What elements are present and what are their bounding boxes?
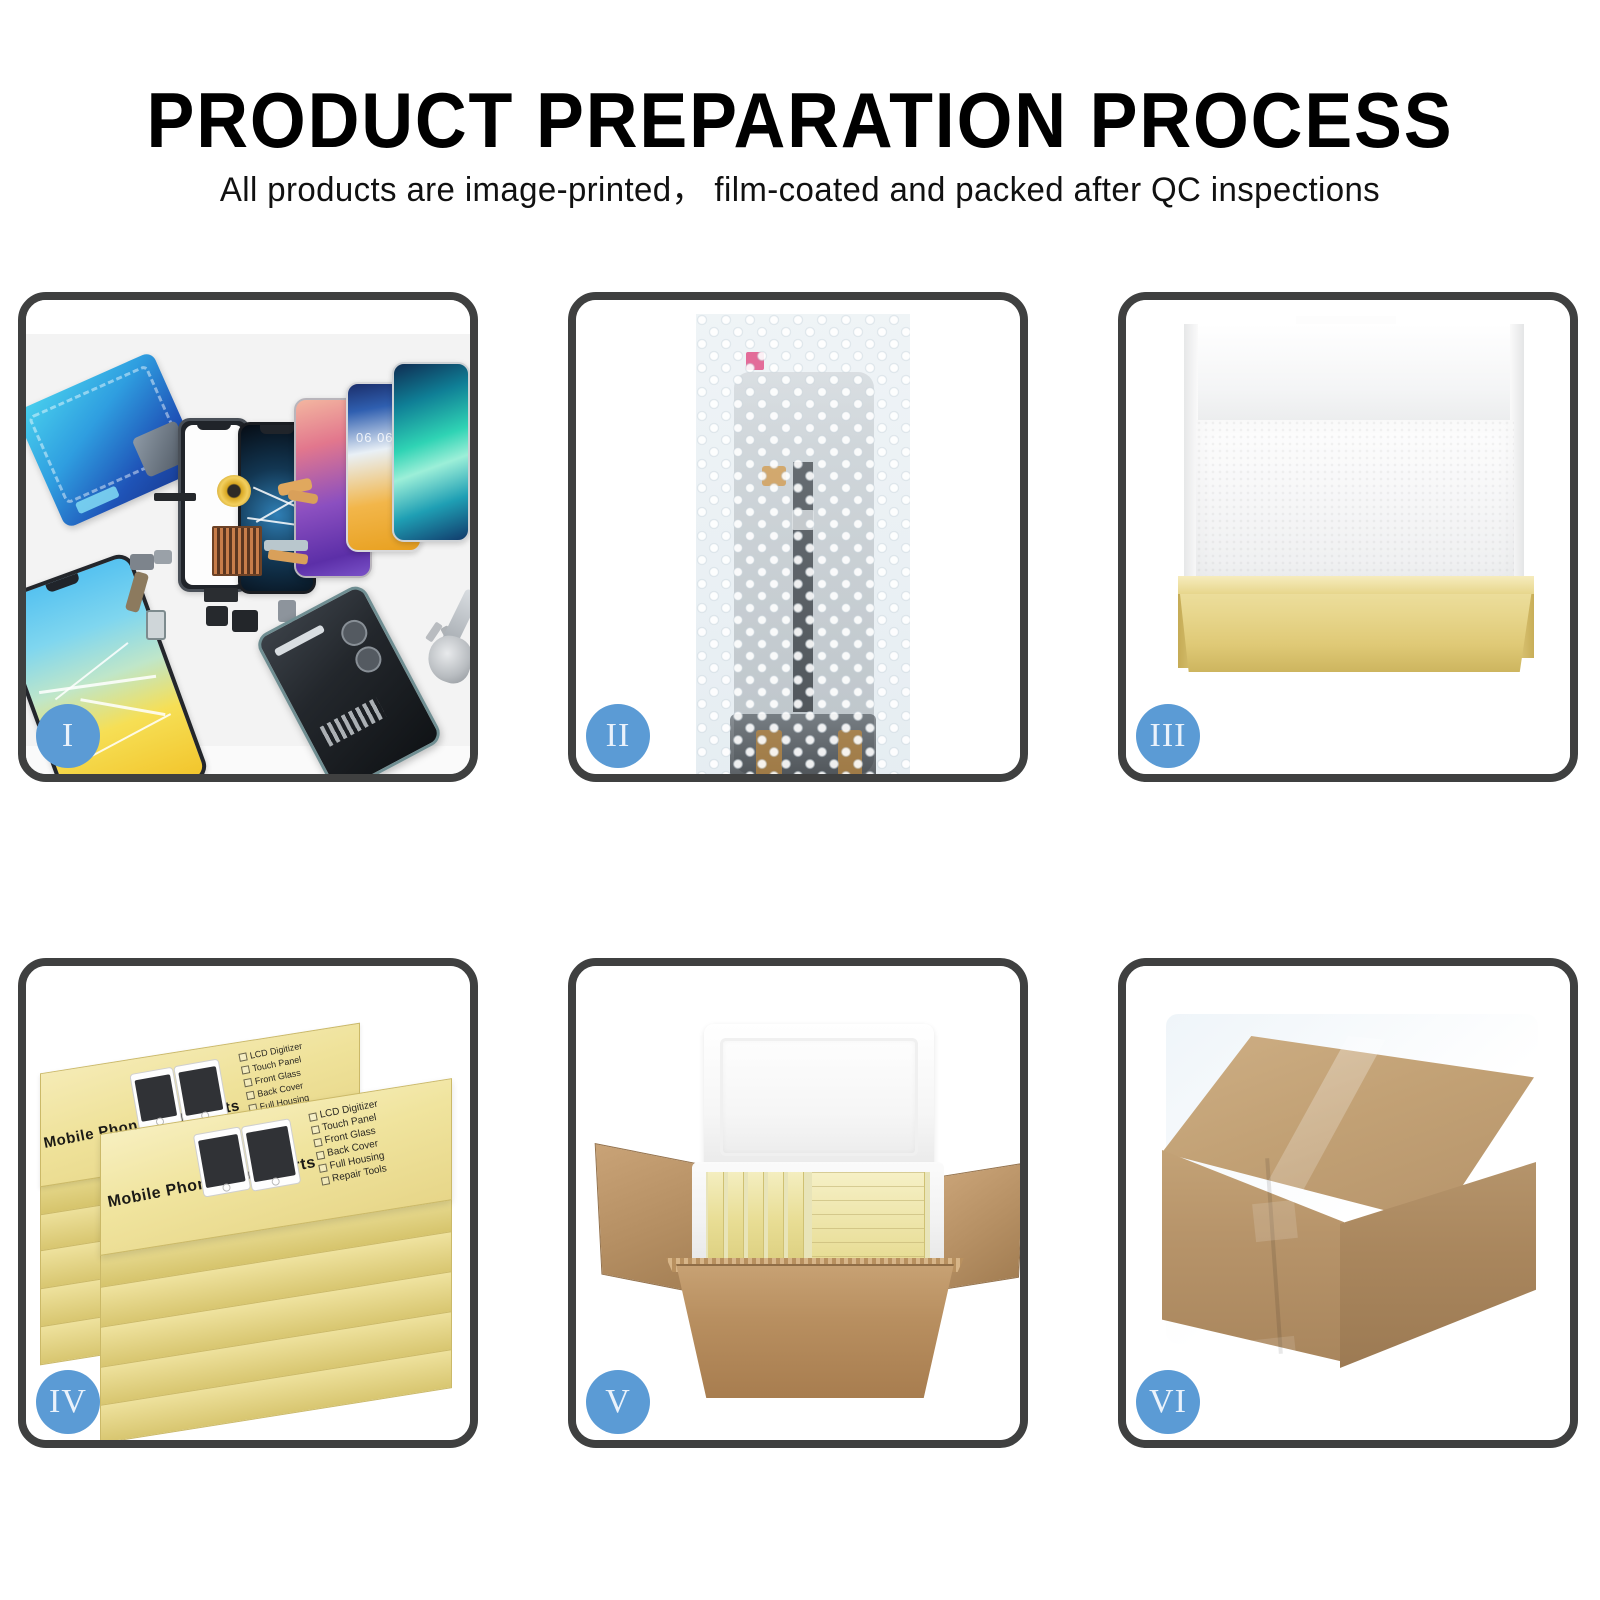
sim-tray-part: [146, 610, 166, 640]
phone-clock-label: 06 06: [356, 430, 394, 445]
step-panel-5[interactable]: V: [568, 958, 1028, 1448]
backdrop-band-top: [26, 300, 470, 334]
step-6-image: [1126, 966, 1570, 1440]
chip-part: [204, 588, 238, 602]
styrofoam-lid: [704, 1024, 934, 1172]
step-3-image: [1126, 300, 1570, 774]
wireless-coil-part: [217, 475, 251, 507]
checkbox-icon: [311, 1125, 320, 1134]
foam-texture: [1196, 420, 1514, 578]
artwork-screen: [178, 1066, 223, 1116]
camera-module-part: [130, 554, 154, 570]
yellow-box-front-edge: [1178, 576, 1534, 594]
step-panel-3[interactable]: III: [1118, 292, 1578, 782]
step-2-image: [576, 300, 1020, 774]
artwork-screen: [246, 1126, 296, 1183]
crack-line: [55, 642, 129, 700]
carton-tab: [1252, 1336, 1298, 1376]
white-foam-sheet: [1196, 420, 1514, 578]
bubble-wrap-texture: [696, 314, 910, 774]
retail-box-stack-lines: [812, 1172, 925, 1262]
artwork-home-button: [222, 1183, 231, 1192]
checkbox-icon: [246, 1091, 255, 1100]
green-wave-phone: [392, 362, 470, 542]
speaker-part: [154, 493, 196, 501]
sealed-carton: [1126, 966, 1570, 1440]
retail-box-edge: [788, 1172, 804, 1262]
phone-notch: [197, 421, 231, 430]
step-4-image: Mobile Phone Spare Parts LCD Digitizer T…: [26, 966, 470, 1440]
chip-part: [232, 610, 258, 632]
ic-chip-part: [212, 526, 262, 576]
crack-line: [80, 698, 165, 716]
chip-part: [206, 606, 228, 626]
housing-bracket: [274, 624, 325, 656]
process-steps-grid: 06 06: [0, 0, 1600, 1600]
step-panel-4[interactable]: Mobile Phone Spare Parts LCD Digitizer T…: [18, 958, 478, 1448]
artwork-screen: [134, 1074, 177, 1122]
packed-retail-boxes: [706, 1172, 930, 1262]
step-badge-2: II: [586, 704, 650, 768]
camera-module-part: [154, 550, 172, 564]
step-panel-1[interactable]: 06 06: [18, 292, 478, 782]
step-badge-1: I: [36, 704, 100, 768]
checkbox-icon: [316, 1151, 325, 1160]
retail-box-edge: [728, 1172, 744, 1262]
retail-box-edge: [768, 1172, 784, 1262]
checkbox-icon: [238, 1052, 247, 1061]
bubble-wrap-bag: [696, 314, 910, 774]
box-checklist-front: LCD Digitizer Touch Panel Front Glass Ba…: [308, 1099, 392, 1189]
step-panel-6[interactable]: VI: [1118, 958, 1578, 1448]
carton-tab: [1252, 1200, 1298, 1242]
retail-box-stack: Mobile Phone Spare Parts LCD Digitizer T…: [26, 966, 470, 1440]
carton-front-wall: [664, 1264, 966, 1398]
phone-notch: [45, 573, 80, 593]
checkbox-icon: [318, 1163, 327, 1172]
retail-box-edge: [708, 1172, 724, 1262]
phone-notch: [260, 425, 294, 434]
checkbox-icon: [313, 1138, 322, 1147]
crack-line: [39, 675, 156, 694]
step-badge-4: IV: [36, 1370, 100, 1434]
checkbox-icon: [241, 1065, 250, 1074]
step-1-image: 06 06: [26, 300, 470, 774]
step-badge-5: V: [586, 1370, 650, 1434]
checkbox-icon: [321, 1176, 330, 1185]
housing-markings: [320, 697, 387, 746]
box-lid: [1184, 324, 1524, 432]
artwork-screen: [198, 1134, 246, 1188]
step-badge-6: VI: [1136, 1370, 1200, 1434]
step-5-image: [576, 966, 1020, 1440]
retail-box-edge: [748, 1172, 764, 1262]
camera-lens: [351, 642, 386, 677]
artwork-home-button: [271, 1177, 280, 1186]
checkbox-icon: [243, 1078, 252, 1087]
step-panel-2[interactable]: II: [568, 292, 1028, 782]
step-badge-3: III: [1136, 704, 1200, 768]
checkbox-icon: [308, 1112, 317, 1121]
